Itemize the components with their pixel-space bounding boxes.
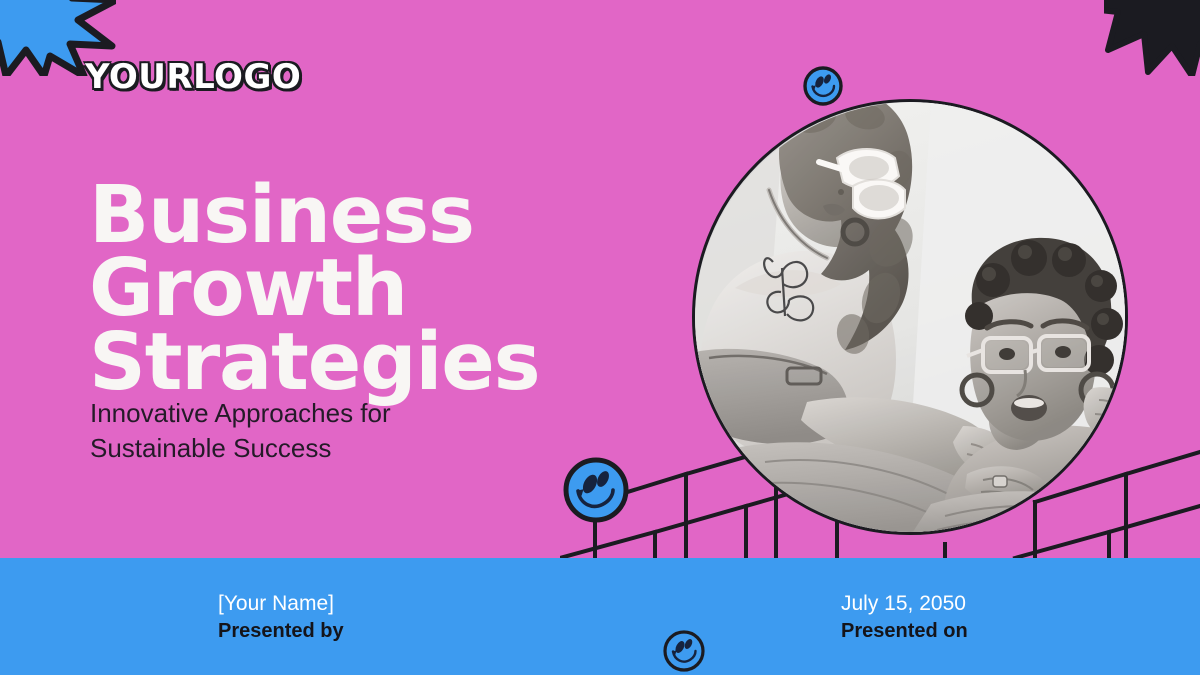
date-block: July 15, 2050 Presented on	[841, 590, 968, 646]
page-title: Business Growth Strategies	[89, 179, 689, 399]
title-line-3: Strategies	[89, 326, 689, 399]
smiley-face-icon	[801, 64, 845, 108]
page-subtitle: Innovative Approaches for Sustainable Su…	[90, 396, 560, 467]
presentation-date[interactable]: July 15, 2050	[841, 590, 968, 617]
starburst-icon	[1104, 0, 1200, 76]
brand-logo[interactable]: YOURLOGO	[85, 57, 301, 97]
title-slide: YOURLOGO Business Growth Strategies Inno…	[0, 0, 1200, 675]
date-label: Presented on	[841, 617, 968, 646]
subtitle-line-1: Innovative Approaches for	[90, 396, 560, 431]
presenter-name[interactable]: [Your Name]	[218, 590, 344, 617]
presenter-block: [Your Name] Presented by	[218, 590, 344, 646]
title-line-1: Business	[89, 179, 689, 252]
footer-band	[0, 558, 1200, 675]
subtitle-line-2: Sustainable Success	[90, 431, 560, 466]
presenter-label: Presented by	[218, 617, 344, 646]
title-line-2: Growth	[89, 252, 689, 325]
hero-photo-circle	[692, 99, 1128, 535]
